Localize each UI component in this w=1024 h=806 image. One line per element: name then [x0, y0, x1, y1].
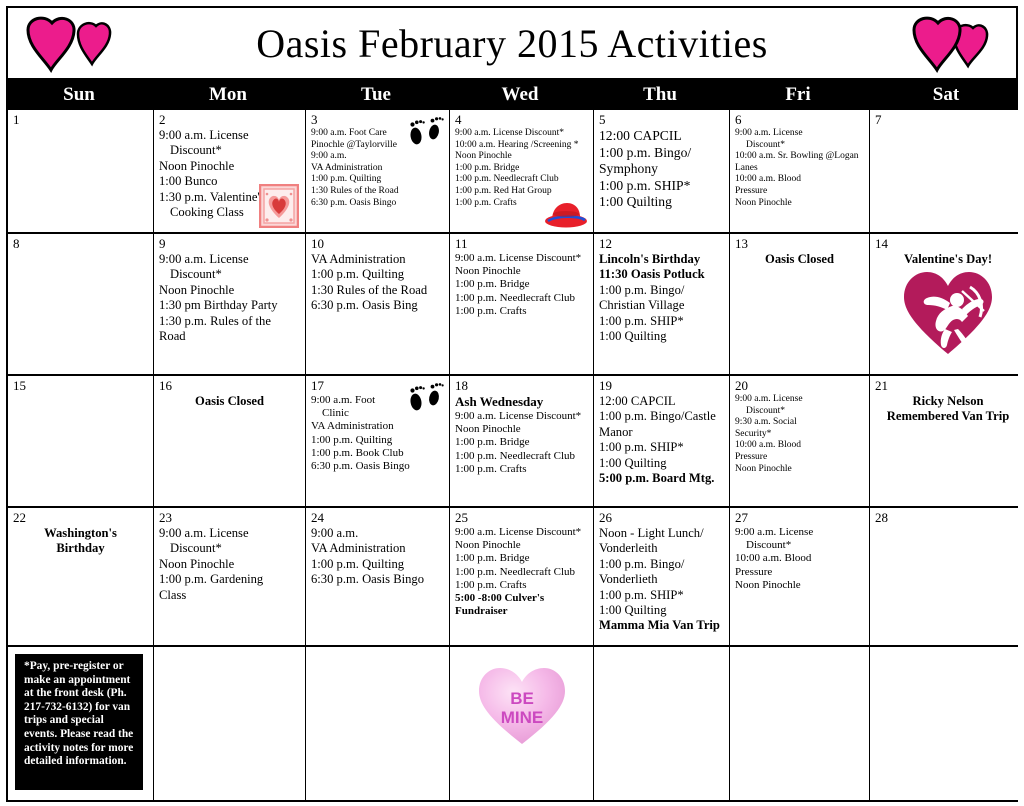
- day-events: Lincoln's Birthday11:30 Oasis Potluck1:0…: [599, 252, 724, 344]
- calendar-day-cell-11[interactable]: 119:00 a.m. License Discount*Noon Pinoch…: [450, 234, 594, 374]
- day-number: 23: [159, 511, 300, 525]
- weekday-sun: Sun: [6, 80, 152, 110]
- calendar-week-row: 899:00 a.m. LicenseDiscount*Noon Pinochl…: [8, 234, 1016, 376]
- event-line: Vonderleith: [599, 541, 724, 556]
- event-line: 9:00 a.m. License: [735, 394, 864, 406]
- day-events: 12:00 CAPCIL1:00 p.m. Bingo/CastleManor1…: [599, 394, 724, 486]
- event-line: 9:00 a.m.: [311, 526, 444, 541]
- calendar-day-cell-18[interactable]: 18Ash Wednesday9:00 a.m. License Discoun…: [450, 376, 594, 506]
- day-number: 14: [875, 237, 1021, 251]
- calendar-day-cell-17[interactable]: 179:00 a.m. FootClinicVA Administration1…: [306, 376, 450, 506]
- event-line: 1:00 p.m. Quilting: [311, 174, 444, 186]
- red-hat-icon: [543, 200, 589, 230]
- event-line: 1:00 p.m. Bridge: [455, 163, 588, 175]
- calendar-day-cell-22[interactable]: 22Washington'sBirthday: [8, 508, 154, 645]
- event-line: 1:00 p.m. Needlecraft Club: [455, 292, 588, 305]
- event-line: Vonderlieth: [599, 572, 724, 587]
- event-line: Ash Wednesday: [455, 394, 588, 410]
- event-line: Discount*: [159, 541, 300, 556]
- weekday-fri: Fri: [728, 80, 868, 110]
- double-hearts-icon-right: [912, 14, 1008, 76]
- day-number: 4: [455, 113, 588, 127]
- event-line: Noon Pinochle: [455, 265, 588, 278]
- event-line: 1:00 p.m. Bingo/: [599, 283, 724, 298]
- event-line: Noon Pinochle: [735, 464, 864, 476]
- footer-cell-6: [870, 647, 1024, 800]
- event-line: 10:00 a.m. Blood: [735, 440, 864, 452]
- calendar-day-cell-12[interactable]: 12Lincoln's Birthday11:30 Oasis Potluck1…: [594, 234, 730, 374]
- footer-cell-4: [594, 647, 730, 800]
- event-line: 1:00 Quilting: [599, 603, 724, 618]
- day-number: 9: [159, 237, 300, 251]
- day-number: 27: [735, 511, 864, 525]
- event-line: 1:00 p.m. Crafts: [455, 305, 588, 318]
- event-line: VA Administration: [311, 252, 444, 267]
- day-events: 9:00 a.m. LicenseDiscount*Noon Pinochle1…: [159, 252, 300, 344]
- event-line: 5:00 -8:00 Culver's: [455, 592, 588, 605]
- event-line: 10:00 a.m. Hearing /Screening *: [455, 140, 588, 152]
- event-line: Pressure: [735, 566, 864, 579]
- event-line: 1:00 p.m. Red Hat Group: [455, 186, 588, 198]
- event-line: 1:00 p.m. Gardening: [159, 572, 300, 587]
- event-line: 9:00 a.m. License Discount*: [455, 128, 588, 140]
- event-line: 1:00 p.m. Needlecraft Club: [455, 566, 588, 579]
- day-number: 7: [875, 113, 1021, 127]
- calendar-week-row: 1516Oasis Closed179:00 a.m. FootClinicVA…: [8, 376, 1016, 508]
- day-events: Ricky NelsonRemembered Van Trip: [875, 394, 1021, 425]
- day-events: 9:00 a.m. LicenseDiscount*Noon Pinochle1…: [159, 526, 300, 603]
- event-line: Manor: [599, 425, 724, 440]
- day-number: 28: [875, 511, 1021, 525]
- calendar-day-cell-14[interactable]: 14Valentine's Day!: [870, 234, 1024, 374]
- event-line: Discount*: [159, 267, 300, 282]
- footer-cell-0: *Pay, pre-register or make an appointmen…: [8, 647, 154, 800]
- event-line: Valentine's Day!: [875, 252, 1021, 267]
- calendar-day-cell-5[interactable]: 512:00 CAPCIL1:00 p.m. Bingo/Symphony1:0…: [594, 110, 730, 232]
- event-line: Mamma Mia Van Trip: [599, 618, 724, 633]
- calendar-day-cell-15[interactable]: 15: [8, 376, 154, 506]
- event-line: 1:30 pm Birthday Party: [159, 298, 300, 313]
- event-line: Noon - Light Lunch/: [599, 526, 724, 541]
- event-line: 1:00 p.m. SHIP*: [599, 314, 724, 329]
- event-line: Oasis Closed: [159, 394, 300, 409]
- event-line: 1:00 p.m. Quilting: [311, 267, 444, 282]
- event-line: 9:00 a.m. License: [159, 252, 300, 267]
- valentine-card-icon: [259, 184, 299, 228]
- event-line: 9:00 a.m. License Discount*: [455, 252, 588, 265]
- day-events: 9:00 a.m. License Discount*Noon Pinochle…: [455, 252, 588, 318]
- event-line: 1:30 p.m. Rules of the: [159, 314, 300, 329]
- calendar-day-cell-24[interactable]: 249:00 a.m.VA Administration1:00 p.m. Qu…: [306, 508, 450, 645]
- day-number: 24: [311, 511, 444, 525]
- day-events: Oasis Closed: [159, 394, 300, 409]
- day-number: 20: [735, 379, 864, 393]
- event-line: 6:30 p.m. Oasis Bingo: [311, 198, 444, 210]
- event-line: 6:30 p.m. Oasis Bingo: [311, 460, 444, 473]
- event-line: Fundraiser: [455, 605, 588, 618]
- event-line: 11:30 Oasis Potluck: [599, 267, 724, 282]
- calendar-day-cell-28[interactable]: 28: [870, 508, 1024, 645]
- event-line: Noon Pinochle: [159, 159, 300, 174]
- day-events: Valentine's Day!: [875, 252, 1021, 267]
- event-line: 1:00 p.m. Bridge: [455, 278, 588, 291]
- event-line: Discount*: [735, 140, 864, 152]
- event-line: 1:00 p.m. SHIP*: [599, 178, 724, 195]
- calendar-day-cell-4[interactable]: 49:00 a.m. License Discount*10:00 a.m. H…: [450, 110, 594, 232]
- day-events: 9:00 a.m.VA Administration1:00 p.m. Quil…: [311, 526, 444, 588]
- footer-cell-3: BE MINE: [450, 647, 594, 800]
- day-events: 9:00 a.m. LicenseDiscount*10:00 a.m. Sr.…: [735, 128, 864, 209]
- event-line: Noon Pinochle: [159, 283, 300, 298]
- calendar-day-cell-10[interactable]: 10VA Administration1:00 p.m. Quilting1:3…: [306, 234, 450, 374]
- event-line: 9:00 a.m. License: [159, 526, 300, 541]
- event-line: 1:00 p.m. Book Club: [311, 447, 444, 460]
- footprints-icon: [403, 114, 445, 152]
- day-number: 12: [599, 237, 724, 251]
- day-number: 10: [311, 237, 444, 251]
- calendar-page: Oasis February 2015 Activities Sun Mon T…: [0, 6, 1024, 806]
- day-number: 8: [13, 237, 148, 251]
- day-number: 22: [13, 511, 148, 525]
- weekday-tue: Tue: [304, 80, 448, 110]
- event-line: VA Administration: [311, 541, 444, 556]
- calendar-day-cell-9[interactable]: 99:00 a.m. LicenseDiscount*Noon Pinochle…: [154, 234, 306, 374]
- calendar-banner: Oasis February 2015 Activities: [6, 6, 1018, 80]
- event-line: 6:30 p.m. Oasis Bing: [311, 298, 444, 313]
- event-line: 10:00 a.m. Blood: [735, 174, 864, 186]
- day-number: 16: [159, 379, 300, 393]
- calendar-grid: 129:00 a.m. LicenseDiscount*Noon Pinochl…: [6, 110, 1018, 802]
- day-events: Oasis Closed: [735, 252, 864, 267]
- event-line: 1:00 p.m. Bingo/: [599, 557, 724, 572]
- day-number: 6: [735, 113, 864, 127]
- event-line: 1:30 Rules of the Road: [311, 186, 444, 198]
- event-line: Noon Pinochle: [735, 579, 864, 592]
- footer-cell-1: [154, 647, 306, 800]
- calendar-day-cell-2[interactable]: 29:00 a.m. LicenseDiscount*Noon Pinochle…: [154, 110, 306, 232]
- event-line: Class: [159, 588, 300, 603]
- day-events: Noon - Light Lunch/Vonderleith1:00 p.m. …: [599, 526, 724, 634]
- day-number: 13: [735, 237, 864, 251]
- event-line: Lincoln's Birthday: [599, 252, 724, 267]
- weekday-wed: Wed: [448, 80, 592, 110]
- svg-text:BE: BE: [510, 689, 534, 708]
- event-line: 1:00 Quilting: [599, 456, 724, 471]
- event-line: 1:00 p.m. Needlecraft Club: [455, 450, 588, 463]
- day-events: 9:00 a.m. LicenseDiscount*9:30 a.m. Soci…: [735, 394, 864, 475]
- calendar-day-cell-7[interactable]: 7: [870, 110, 1024, 232]
- event-line: 1:00 p.m. Needlecraft Club: [455, 174, 588, 186]
- event-line: 1:00 p.m. Bridge: [455, 436, 588, 449]
- event-line: 1:00 p.m. Crafts: [455, 579, 588, 592]
- event-line: Noon Pinochle: [159, 557, 300, 572]
- calendar-day-cell-23[interactable]: 239:00 a.m. LicenseDiscount*Noon Pinochl…: [154, 508, 306, 645]
- calendar-day-cell-8[interactable]: 8: [8, 234, 154, 374]
- event-line: Christian Village: [599, 298, 724, 313]
- event-line: 9:00 a.m. License: [735, 128, 864, 140]
- event-line: Pressure: [735, 186, 864, 198]
- weekday-header-row: Sun Mon Tue Wed Thu Fri Sat: [6, 80, 1018, 110]
- event-line: Noon Pinochle: [735, 198, 864, 210]
- footer-cell-5: [730, 647, 870, 800]
- calendar-day-cell-1[interactable]: 1: [8, 110, 154, 232]
- event-line: 10:00 a.m. Blood: [735, 552, 864, 565]
- event-line: Security*: [735, 429, 864, 441]
- event-line: 1:00 Quilting: [599, 329, 724, 344]
- day-number: 26: [599, 511, 724, 525]
- event-line: Noon Pinochle: [455, 539, 588, 552]
- event-line: Pressure: [735, 452, 864, 464]
- calendar-day-cell-27[interactable]: 279:00 a.m. LicenseDiscount*10:00 a.m. B…: [730, 508, 870, 645]
- registration-note-text: *Pay, pre-register or make an appointmen…: [24, 660, 136, 769]
- event-line: Symphony: [599, 161, 724, 178]
- calendar-day-cell-6[interactable]: 69:00 a.m. LicenseDiscount*10:00 a.m. Sr…: [730, 110, 870, 232]
- event-line: 1:00 p.m. Bingo/: [599, 145, 724, 162]
- event-line: Birthday: [13, 541, 148, 556]
- calendar-day-cell-3[interactable]: 39:00 a.m. Foot CarePinochle @Taylorvill…: [306, 110, 450, 232]
- event-line: Discount*: [735, 539, 864, 552]
- event-line: VA Administration: [311, 163, 444, 175]
- event-line: 9:30 a.m. Social: [735, 417, 864, 429]
- calendar-week-row: 22Washington'sBirthday239:00 a.m. Licens…: [8, 508, 1016, 647]
- event-line: 1:00 Quilting: [599, 194, 724, 211]
- event-line: 1:00 p.m. SHIP*: [599, 588, 724, 603]
- event-line: 1:00 p.m. Bingo/Castle: [599, 409, 724, 424]
- day-number: 25: [455, 511, 588, 525]
- day-number: 11: [455, 237, 588, 251]
- day-events: 9:00 a.m. License Discount*Noon Pinochle…: [455, 526, 588, 618]
- event-line: 1:00 p.m. Bridge: [455, 552, 588, 565]
- weekday-thu: Thu: [592, 80, 728, 110]
- event-line: 1:00 p.m. SHIP*: [599, 440, 724, 455]
- footprints-icon: [403, 380, 445, 418]
- event-line: 10:00 a.m. Sr. Bowling @Logan: [735, 151, 864, 163]
- calendar-day-cell-21[interactable]: 21Ricky NelsonRemembered Van Trip: [870, 376, 1024, 506]
- event-line: Oasis Closed: [735, 252, 864, 267]
- day-number: 21: [875, 379, 1021, 393]
- event-line: Road: [159, 329, 300, 344]
- event-line: 1:30 Rules of the Road: [311, 283, 444, 298]
- event-line: 9:00 a.m. License: [735, 526, 864, 539]
- event-line: 9:00 a.m.: [311, 151, 444, 163]
- cupid-heart-icon: [875, 269, 1021, 357]
- day-events: Ash Wednesday9:00 a.m. License Discount*…: [455, 394, 588, 476]
- event-line: 12:00 CAPCIL: [599, 394, 724, 409]
- event-line: Noon Pinochle: [455, 423, 588, 436]
- event-line: Ricky Nelson: [875, 394, 1021, 409]
- day-number: 15: [13, 379, 148, 393]
- event-line: 9:00 a.m. License Discount*: [455, 526, 588, 539]
- day-number: 1: [13, 113, 148, 127]
- event-line: VA Administration: [311, 420, 444, 433]
- event-line: Lanes: [735, 163, 864, 175]
- registration-note-box: *Pay, pre-register or make an appointmen…: [15, 654, 143, 790]
- event-line: 1:00 p.m. Crafts: [455, 463, 588, 476]
- event-line: Discount*: [159, 143, 300, 158]
- footer-cell-2: [306, 647, 450, 800]
- day-events: VA Administration1:00 p.m. Quilting1:30 …: [311, 252, 444, 314]
- event-line: Washington's: [13, 526, 148, 541]
- calendar-day-cell-25[interactable]: 259:00 a.m. License Discount*Noon Pinoch…: [450, 508, 594, 645]
- calendar-footer-row: *Pay, pre-register or make an appointmen…: [8, 647, 1016, 800]
- event-line: 6:30 p.m. Oasis Bingo: [311, 572, 444, 587]
- weekday-mon: Mon: [152, 80, 304, 110]
- day-number: 18: [455, 379, 588, 393]
- event-line: Noon Pinochle: [455, 151, 588, 163]
- day-number: 5: [599, 113, 724, 127]
- day-events: 12:00 CAPCIL1:00 p.m. Bingo/Symphony1:00…: [599, 128, 724, 211]
- event-line: Discount*: [735, 406, 864, 418]
- calendar-week-row: 129:00 a.m. LicenseDiscount*Noon Pinochl…: [8, 110, 1016, 234]
- day-events: Washington'sBirthday: [13, 526, 148, 557]
- weekday-sat: Sat: [868, 80, 1024, 110]
- double-hearts-icon-left: [16, 14, 112, 76]
- event-line: 9:00 a.m. License: [159, 128, 300, 143]
- event-line: 1:00 p.m. Quilting: [311, 557, 444, 572]
- page-title: Oasis February 2015 Activities: [256, 20, 768, 67]
- calendar-day-cell-26[interactable]: 26Noon - Light Lunch/Vonderleith1:00 p.m…: [594, 508, 730, 645]
- event-line: 1:00 p.m. Quilting: [311, 434, 444, 447]
- candy-heart-icon: BE MINE: [455, 664, 588, 748]
- day-number: 19: [599, 379, 724, 393]
- event-line: 5:00 p.m. Board Mtg.: [599, 471, 724, 486]
- calendar-day-cell-20[interactable]: 209:00 a.m. LicenseDiscount*9:30 a.m. So…: [730, 376, 870, 506]
- event-line: Remembered Van Trip: [875, 409, 1021, 424]
- calendar-day-cell-16[interactable]: 16Oasis Closed: [154, 376, 306, 506]
- svg-text:MINE: MINE: [500, 708, 543, 727]
- event-line: 12:00 CAPCIL: [599, 128, 724, 145]
- day-number: 2: [159, 113, 300, 127]
- day-events: 9:00 a.m. License Discount*10:00 a.m. He…: [455, 128, 588, 209]
- calendar-day-cell-13[interactable]: 13Oasis Closed: [730, 234, 870, 374]
- day-events: 9:00 a.m. LicenseDiscount*10:00 a.m. Blo…: [735, 526, 864, 592]
- event-line: 9:00 a.m. License Discount*: [455, 410, 588, 423]
- calendar-day-cell-19[interactable]: 1912:00 CAPCIL1:00 p.m. Bingo/CastleMano…: [594, 376, 730, 506]
